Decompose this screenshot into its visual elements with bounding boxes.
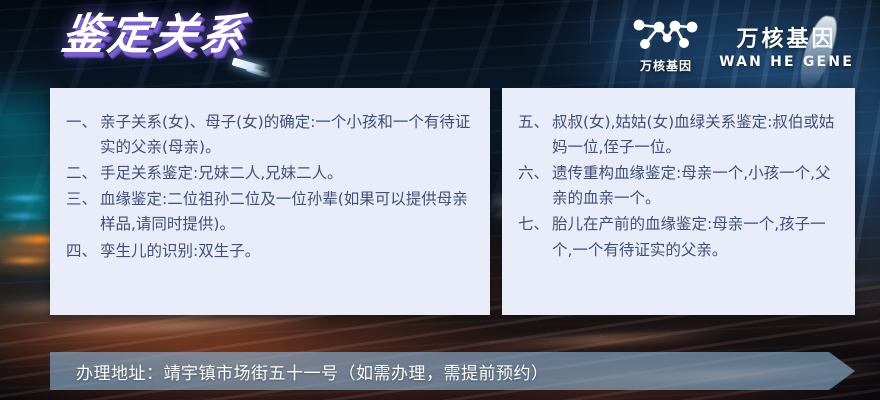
list-item-number: 二、 [66,161,100,186]
list-item-text: 手足关系鉴定:兄妹二人,兄妹二人。 [100,161,474,186]
relationship-list-left: 一、 亲子关系(女)、母子(女)的确定:一个小孩和一个有待证实的父亲(母亲)。 … [50,88,490,264]
list-item: 二、 手足关系鉴定:兄妹二人,兄妹二人。 [66,161,474,186]
address-banner-text: 办理地址：靖宇镇市场街五十一号（如需办理，需提前预约） [50,359,549,384]
list-item-number: 一、 [66,110,100,160]
list-item-text: 血缘鉴定:二位祖孙二位及一位孙辈(如果可以提供母亲样品,请同时提供)。 [100,187,474,237]
list-item: 四、 孪生儿的识别:双生子。 [66,239,474,264]
list-item: 六、 遗传重构血缘鉴定:母亲一个,小孩一个,父亲的血亲一个。 [518,161,839,211]
list-item-number: 七、 [518,212,552,262]
brand-name-cn: 万核基因 [737,21,837,53]
list-item-text: 亲子关系(女)、母子(女)的确定:一个小孩和一个有待证实的父亲(母亲)。 [100,110,474,160]
molecule-node-icon [629,16,703,54]
list-item-text: 遗传重构血缘鉴定:母亲一个,小孩一个,父亲的血亲一个。 [552,161,839,211]
page-title: 鉴定关系 [59,14,250,57]
relationship-list-right: 五、 叔叔(女),姑姑(女)血绿关系鉴定:叔伯或姑妈一位,侄子一位。 六、 遗传… [502,88,855,263]
list-item-number: 四、 [66,239,100,264]
list-item-number: 六、 [518,161,552,211]
list-item-text: 孪生儿的识别:双生子。 [100,239,474,264]
address-banner: 办理地址：靖宇镇市场街五十一号（如需办理，需提前预约） [50,352,855,390]
info-panel-right: 五、 叔叔(女),姑姑(女)血绿关系鉴定:叔伯或姑妈一位,侄子一位。 六、 遗传… [502,88,855,315]
list-item: 五、 叔叔(女),姑姑(女)血绿关系鉴定:叔伯或姑妈一位,侄子一位。 [518,110,839,160]
list-item-text: 叔叔(女),姑姑(女)血绿关系鉴定:叔伯或姑妈一位,侄子一位。 [552,110,839,160]
brand-wordmark: 万核基因 WAN HE GENE [719,21,854,70]
poster-canvas: 鉴定关系 [0,0,880,400]
list-item: 七、 胎儿在产前的血缘鉴定:母亲一个,孩子一个,一个有待证实的父亲。 [518,212,839,262]
info-panel-left: 一、 亲子关系(女)、母子(女)的确定:一个小孩和一个有待证实的父亲(母亲)。 … [50,88,490,315]
brand-mark: 万核基因 [629,16,703,74]
brand-name-en: WAN HE GENE [719,54,854,70]
brand-mark-label: 万核基因 [640,57,692,74]
list-item: 三、 血缘鉴定:二位祖孙二位及一位孙辈(如果可以提供母亲样品,请同时提供)。 [66,187,474,237]
list-item-number: 三、 [66,187,100,237]
brand-logo: 万核基因 万核基因 WAN HE GENE [629,16,854,74]
list-item-number: 五、 [518,110,552,160]
list-item-text: 胎儿在产前的血缘鉴定:母亲一个,孩子一个,一个有待证实的父亲。 [552,212,839,262]
list-item: 一、 亲子关系(女)、母子(女)的确定:一个小孩和一个有待证实的父亲(母亲)。 [66,110,474,160]
